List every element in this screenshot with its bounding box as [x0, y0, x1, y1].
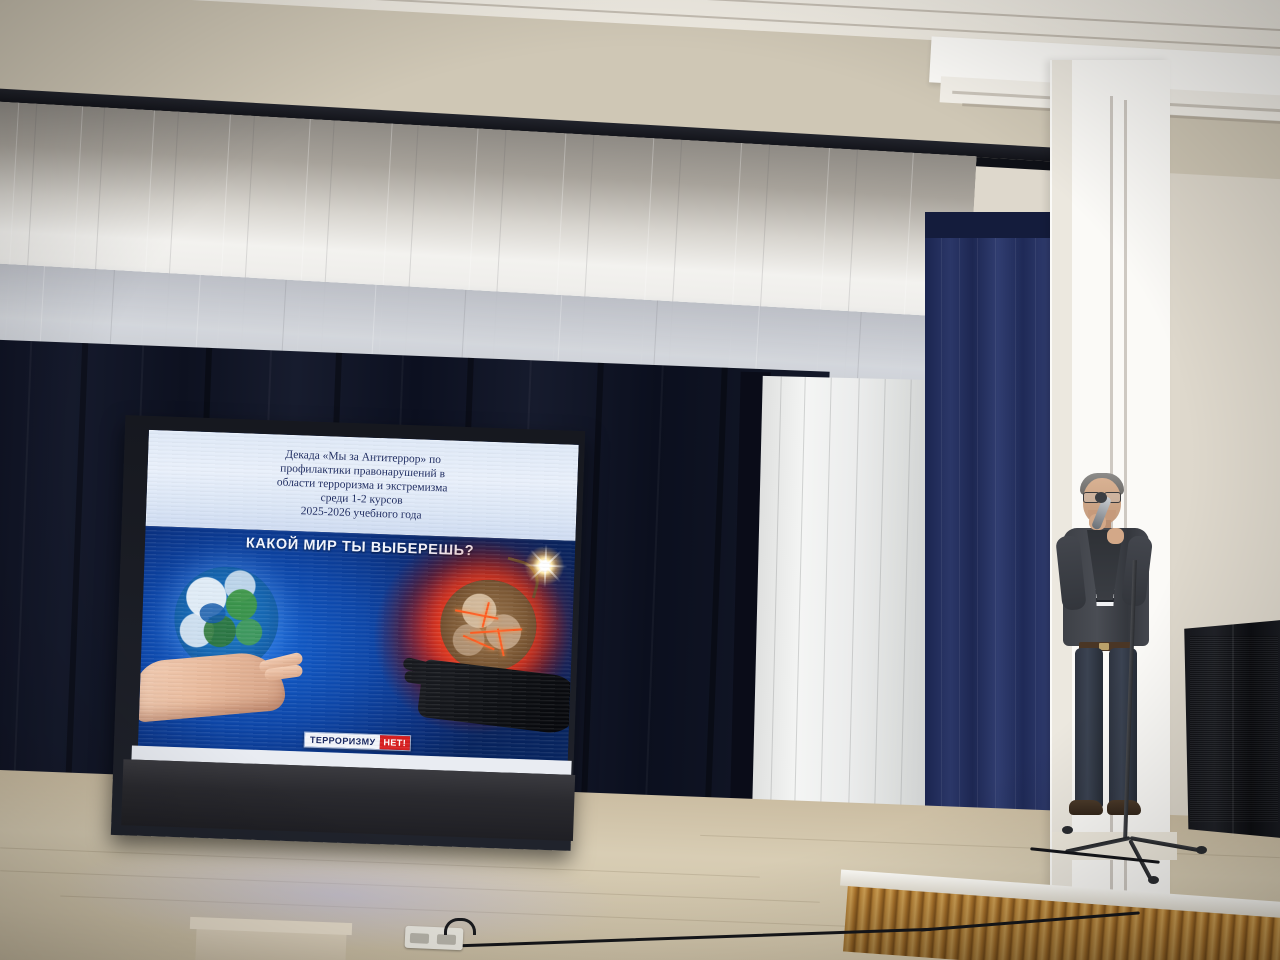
badge-word-2: НЕТ! [379, 735, 410, 750]
right-hand [1107, 528, 1124, 544]
microphone-head [1095, 492, 1107, 503]
stand-foot [1062, 826, 1073, 834]
navy-side-curtain [925, 212, 1065, 852]
spark-icon [524, 545, 565, 586]
shoe-left [1069, 800, 1103, 815]
badge-word-1: ТЕРРОРИЗМУ [305, 733, 380, 750]
speaker-grille [1190, 636, 1278, 822]
presenter [1055, 470, 1185, 850]
slide-image-block: КАКОЙ МИР ТЫ ВЫБЕРЕШЬ? [138, 526, 575, 763]
projected-slide: Декада «Мы за Антитеррор» по профилактик… [138, 430, 579, 763]
slide-title-block: Декада «Мы за Антитеррор» по профилактик… [146, 430, 579, 541]
projection-screen[interactable]: Декада «Мы за Антитеррор» по профилактик… [111, 415, 585, 851]
power-strip-cord [444, 918, 476, 935]
stand-foot [1148, 876, 1159, 884]
navy-curtain-header [925, 212, 1065, 238]
auditorium-scene: Декада «Мы за Антитеррор» по профилактик… [0, 0, 1280, 960]
white-sheer-curtain [751, 376, 937, 850]
speaker-edge [1232, 624, 1234, 836]
status-badge: ТЕРРОРИЗМУ НЕТ! [304, 732, 412, 752]
stand-foot [1196, 846, 1207, 854]
slide-title-text: Декада «Мы за Антитеррор» по профилактик… [264, 447, 461, 524]
